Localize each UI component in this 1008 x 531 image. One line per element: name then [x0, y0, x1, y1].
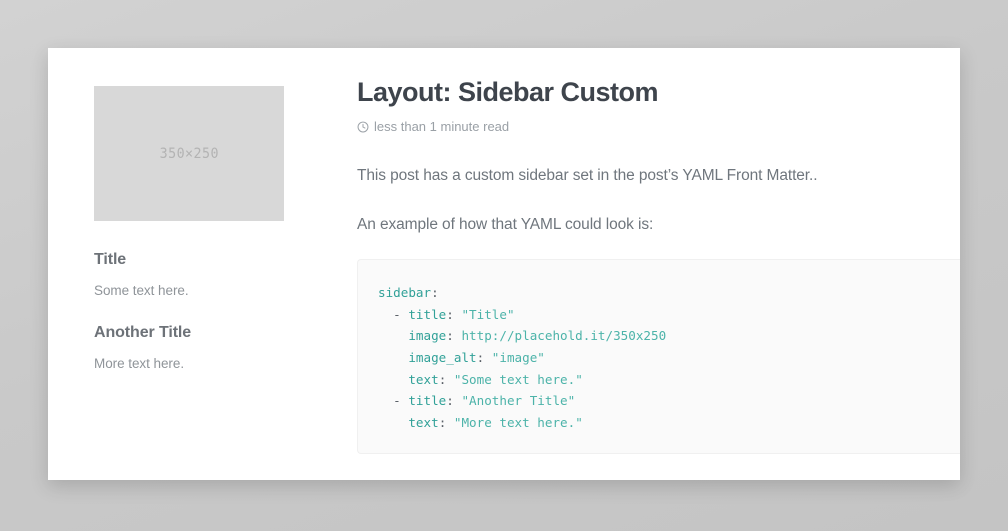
- post-main: Layout: Sidebar Custom less than 1 minut…: [357, 76, 960, 454]
- code-block: sidebar: - title: "Title" image: http://…: [357, 259, 960, 454]
- post-meta: less than 1 minute read: [357, 119, 960, 134]
- sidebar-placeholder-image: 350×250: [94, 86, 284, 221]
- clock-icon: [357, 121, 369, 133]
- sidebar-block-title: Title: [94, 251, 290, 269]
- read-time-label: less than 1 minute read: [374, 119, 509, 134]
- sidebar-block: Title Some text here.: [94, 251, 290, 298]
- code-content: sidebar: - title: "Title" image: http://…: [378, 282, 940, 433]
- content-card: 350×250 Title Some text here. Another Ti…: [48, 48, 960, 480]
- sidebar-image-label: 350×250: [159, 146, 218, 162]
- post-paragraph: An example of how that YAML could look i…: [357, 213, 960, 236]
- sidebar-block-text: Some text here.: [94, 283, 290, 298]
- page-title: Layout: Sidebar Custom: [357, 76, 960, 110]
- sidebar-block-title: Another Title: [94, 324, 290, 342]
- sidebar-block: Another Title More text here.: [94, 324, 290, 371]
- sidebar-block-text: More text here.: [94, 356, 290, 371]
- post-paragraph: This post has a custom sidebar set in th…: [357, 164, 960, 187]
- post-sidebar: 350×250 Title Some text here. Another Ti…: [94, 86, 290, 371]
